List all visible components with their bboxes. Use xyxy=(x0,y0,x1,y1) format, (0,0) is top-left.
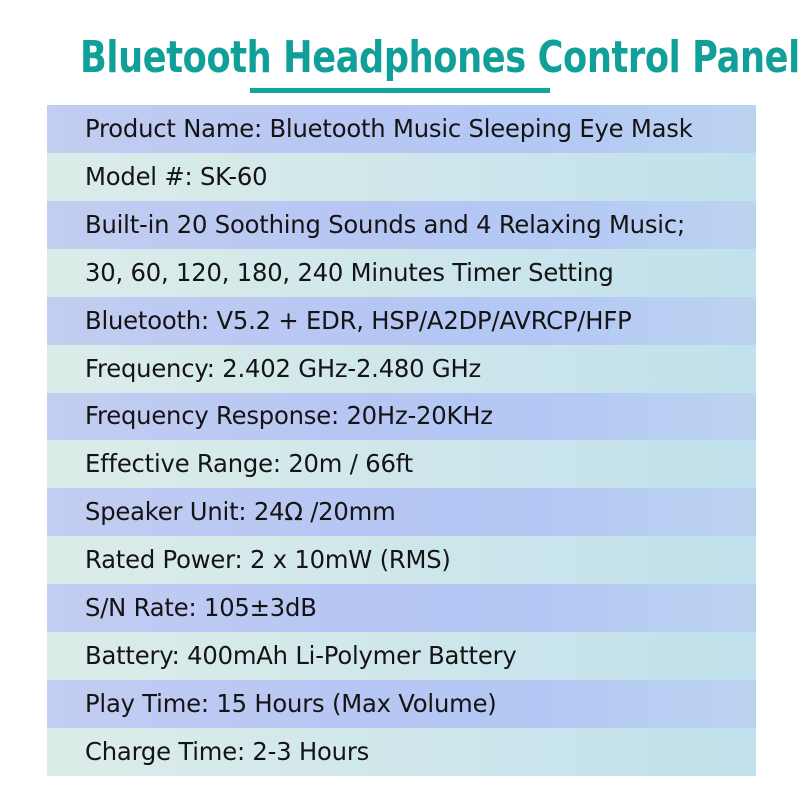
spec-row: Model #: SK-60 xyxy=(47,153,756,201)
page-title: Bluetooth Headphones Control Panel xyxy=(80,34,720,82)
spec-row: Play Time: 15 Hours (Max Volume) xyxy=(47,680,756,728)
spec-row-text: Battery: 400mAh Li-Polymer Battery xyxy=(85,641,517,671)
spec-row-text: 30, 60, 120, 180, 240 Minutes Timer Sett… xyxy=(85,258,614,288)
spec-row-text: S/N Rate: 105±3dB xyxy=(85,593,317,623)
spec-row: 30, 60, 120, 180, 240 Minutes Timer Sett… xyxy=(47,249,756,297)
spec-row: Bluetooth: V5.2 + EDR, HSP/A2DP/AVRCP/HF… xyxy=(47,297,756,345)
spec-row: Battery: 400mAh Li-Polymer Battery xyxy=(47,632,756,680)
spec-row-text: Effective Range: 20m / 66ft xyxy=(85,449,413,479)
spec-row: Effective Range: 20m / 66ft xyxy=(47,440,756,488)
spec-row: Frequency: 2.402 GHz-2.480 GHz xyxy=(47,345,756,393)
spec-row-text: Speaker Unit: 24Ω /20mm xyxy=(85,497,396,527)
spec-row: Product Name: Bluetooth Music Sleeping E… xyxy=(47,105,756,153)
spec-row: Built-in 20 Soothing Sounds and 4 Relaxi… xyxy=(47,201,756,249)
spec-row: S/N Rate: 105±3dB xyxy=(47,584,756,632)
spec-row-text: Frequency: 2.402 GHz-2.480 GHz xyxy=(85,354,481,384)
spec-row-text: Model #: SK-60 xyxy=(85,162,267,192)
title-underline-accent xyxy=(250,88,550,93)
spec-row: Rated Power: 2 x 10mW (RMS) xyxy=(47,536,756,584)
spec-row-text: Product Name: Bluetooth Music Sleeping E… xyxy=(85,114,693,144)
title-block: Bluetooth Headphones Control Panel xyxy=(0,34,800,93)
spec-row-text: Built-in 20 Soothing Sounds and 4 Relaxi… xyxy=(85,210,685,240)
spec-row-text: Bluetooth: V5.2 + EDR, HSP/A2DP/AVRCP/HF… xyxy=(85,306,632,336)
spec-row-text: Frequency Response: 20Hz-20KHz xyxy=(85,401,493,431)
spec-row: Speaker Unit: 24Ω /20mm xyxy=(47,488,756,536)
spec-row-text: Play Time: 15 Hours (Max Volume) xyxy=(85,689,497,719)
spec-row-text: Charge Time: 2-3 Hours xyxy=(85,737,369,767)
control-panel-spec-sheet: Bluetooth Headphones Control Panel Produ… xyxy=(0,0,800,800)
spec-row: Charge Time: 2-3 Hours xyxy=(47,728,756,776)
specification-table: Product Name: Bluetooth Music Sleeping E… xyxy=(47,105,756,776)
spec-row-text: Rated Power: 2 x 10mW (RMS) xyxy=(85,545,451,575)
spec-row: Frequency Response: 20Hz-20KHz xyxy=(47,393,756,441)
